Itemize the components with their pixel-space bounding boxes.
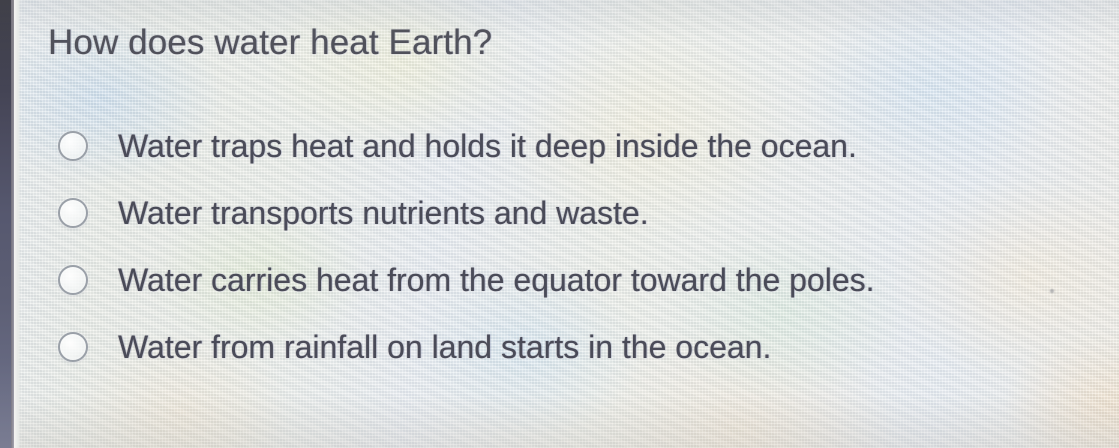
radio-unchecked-icon[interactable] [58, 265, 88, 295]
answer-option-4[interactable]: Water from rainfall on land starts in th… [0, 313, 1119, 380]
answer-option-label: Water traps heat and holds it deep insid… [118, 126, 857, 166]
question-title: How does water heat Earth? [48, 21, 492, 65]
dust-speck-artifact [1050, 289, 1054, 293]
answer-option-3[interactable]: Water carries heat from the equator towa… [0, 246, 1119, 313]
answer-option-label: Water carries heat from the equator towa… [118, 260, 875, 300]
answer-option-2[interactable]: Water transports nutrients and waste. [0, 179, 1119, 246]
radio-unchecked-icon[interactable] [58, 198, 88, 228]
answer-option-1[interactable]: Water traps heat and holds it deep insid… [0, 112, 1119, 179]
question-content: How does water heat Earth? Water traps h… [0, 0, 1119, 448]
answer-option-label: Water from rainfall on land starts in th… [118, 327, 771, 367]
radio-unchecked-icon[interactable] [58, 131, 88, 161]
answer-option-label: Water transports nutrients and waste. [118, 193, 649, 233]
radio-unchecked-icon[interactable] [58, 332, 88, 362]
answer-options-list: Water traps heat and holds it deep insid… [0, 112, 1119, 380]
quiz-question-screen: How does water heat Earth? Water traps h… [0, 0, 1119, 448]
